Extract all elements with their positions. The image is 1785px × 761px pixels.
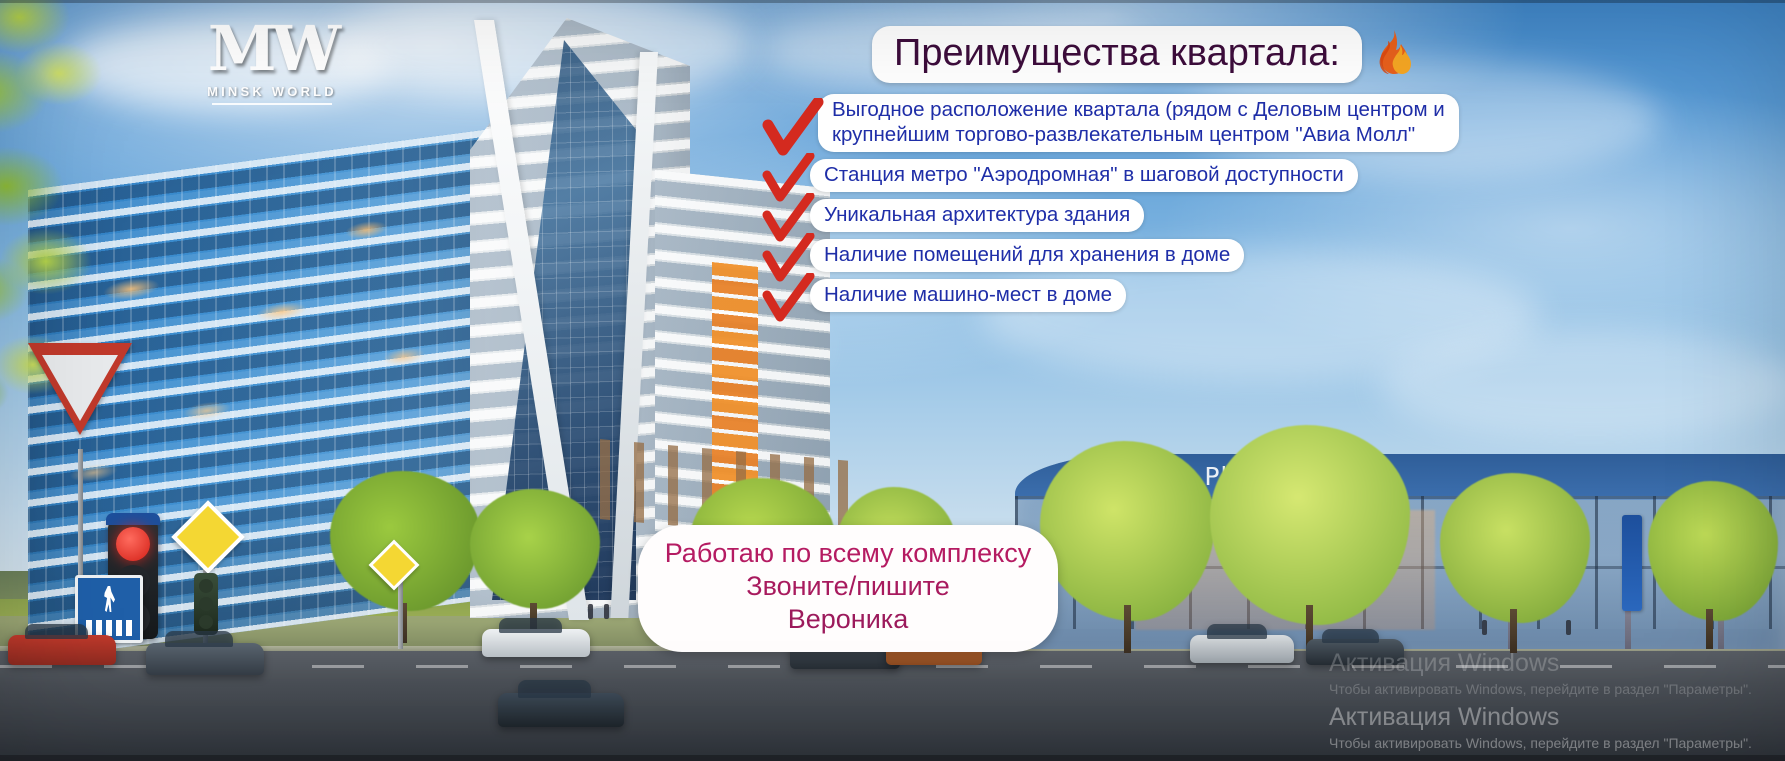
promo-image: ry Planet Pl bbox=[0, 0, 1785, 761]
benefit-line: Наличие помещений для хранения в доме bbox=[824, 242, 1230, 267]
headline-pill: Преимущества квартала: bbox=[872, 26, 1362, 83]
benefit-line: Наличие машино-мест в доме bbox=[824, 282, 1112, 307]
minsk-world-logo: MW MINSK WORLD bbox=[196, 18, 348, 114]
headline-row: Преимущества квартала: bbox=[872, 26, 1414, 83]
contact-card: Работаю по всему комплексу Звоните/пишит… bbox=[638, 525, 1058, 652]
logo-underline bbox=[212, 103, 332, 105]
benefit-bubble: Уникальная архитектура здания bbox=[810, 199, 1144, 232]
benefit-item: Уникальная архитектура здания bbox=[762, 199, 1462, 232]
benefit-bubble: Станция метро "Аэродромная" в шаговой до… bbox=[810, 159, 1358, 192]
benefit-item: Наличие машино-мест в доме bbox=[762, 279, 1462, 312]
check-icon bbox=[762, 98, 824, 160]
contact-line-2: Звоните/пишите bbox=[658, 570, 1038, 603]
contact-agent-name: Вероника bbox=[658, 603, 1038, 636]
contact-line-1: Работаю по всему комплексу bbox=[658, 537, 1038, 570]
benefit-item: Наличие помещений для хранения в доме bbox=[762, 239, 1462, 272]
watermark-title: Активация Windows bbox=[1329, 701, 1759, 733]
logo-monogram: MW bbox=[196, 18, 348, 80]
benefit-line: Уникальная архитектура здания bbox=[824, 202, 1130, 227]
flame-icon bbox=[1370, 29, 1414, 81]
logo-wordmark: MINSK WORLD bbox=[196, 84, 348, 99]
benefit-line: Выгодное расположение квартала (рядом с … bbox=[832, 97, 1445, 122]
watermark-title: Активация Windows bbox=[1329, 647, 1759, 679]
benefit-bubble: Наличие машино-мест в доме bbox=[810, 279, 1126, 312]
check-icon bbox=[762, 273, 816, 325]
benefit-item: Выгодное расположение квартала (рядом с … bbox=[762, 94, 1462, 152]
page-title: Преимущества квартала: bbox=[894, 32, 1340, 74]
windows-activation-watermark-ghost: Активация Windows Чтобы активировать Win… bbox=[1329, 647, 1759, 699]
bottom-border bbox=[0, 755, 1785, 761]
watermark-subtitle: Чтобы активировать Windows, перейдите в … bbox=[1329, 733, 1759, 753]
watermark-subtitle: Чтобы активировать Windows, перейдите в … bbox=[1329, 679, 1759, 699]
top-border bbox=[0, 0, 1785, 3]
overlay-layer: MW MINSK WORLD Преимущества квартала: bbox=[0, 0, 1785, 761]
benefit-bubble: Наличие помещений для хранения в доме bbox=[810, 239, 1244, 272]
benefit-bubble: Выгодное расположение квартала (рядом с … bbox=[818, 94, 1459, 152]
benefit-item: Станция метро "Аэродромная" в шаговой до… bbox=[762, 159, 1462, 192]
windows-activation-watermark: Активация Windows Чтобы активировать Win… bbox=[1329, 701, 1759, 753]
benefit-line: крупнейшим торгово-развлекательным центр… bbox=[832, 122, 1445, 147]
benefits-list: Выгодное расположение квартала (рядом с … bbox=[762, 94, 1462, 319]
benefit-line: Станция метро "Аэродромная" в шаговой до… bbox=[824, 162, 1344, 187]
